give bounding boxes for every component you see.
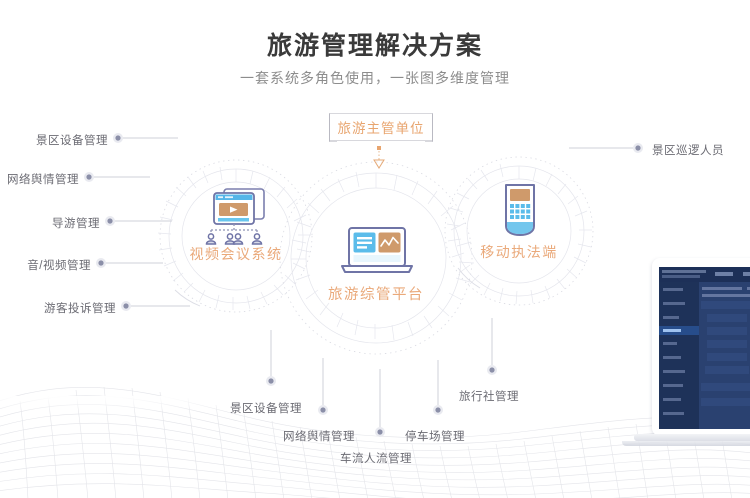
node-label[interactable]: 网络舆情管理 xyxy=(7,171,79,187)
mockup-sidebar xyxy=(659,282,699,429)
laptop-dashboard-icon[interactable] xyxy=(336,226,418,278)
node-label[interactable]: 旅行社管理 xyxy=(459,388,519,404)
video-conference-icon[interactable] xyxy=(196,186,276,248)
mockup-dashboard xyxy=(659,267,750,429)
mockup-tab xyxy=(743,272,750,276)
mockup-laptop-base xyxy=(634,434,750,441)
authority-box[interactable]: 旅游主管单位 xyxy=(330,113,432,141)
node-label[interactable]: 景区设备管理 xyxy=(36,132,108,148)
authority-label: 旅游主管单位 xyxy=(338,117,425,137)
mockup-laptop-foot xyxy=(622,441,750,446)
node-label[interactable]: 停车场管理 xyxy=(405,428,465,444)
node-label[interactable]: 网络舆情管理 xyxy=(283,428,355,444)
node-label[interactable]: 音/视频管理 xyxy=(27,257,91,273)
node-label[interactable]: 车流人流管理 xyxy=(340,450,412,466)
node-label[interactable]: 景区设备管理 xyxy=(230,400,302,416)
page-title: 旅游管理解决方案 xyxy=(0,26,750,62)
node-label[interactable]: 景区巡逻人员 xyxy=(652,142,724,158)
mockup-brand-line-2 xyxy=(662,275,700,278)
laptop-dashboard-mockup xyxy=(652,258,750,470)
video-conference-caption: 视频会议系统 xyxy=(166,244,306,264)
mockup-brand-line-1 xyxy=(662,270,706,273)
node-label[interactable]: 导游管理 xyxy=(52,215,100,231)
mockup-tab xyxy=(715,272,733,276)
infographic-stage: 旅游管理解决方案 一套系统多角色使用，一张图多维度管理 旅游主管单位 xyxy=(0,0,750,498)
mobile-enforcement-caption: 移动执法端 xyxy=(459,242,579,262)
page-subtitle: 一套系统多角色使用，一张图多维度管理 xyxy=(0,68,750,88)
mobile-terminal-icon[interactable] xyxy=(498,182,542,240)
tourism-platform-caption: 旅游综管平台 xyxy=(306,283,446,304)
node-label[interactable]: 游客投诉管理 xyxy=(44,300,116,316)
